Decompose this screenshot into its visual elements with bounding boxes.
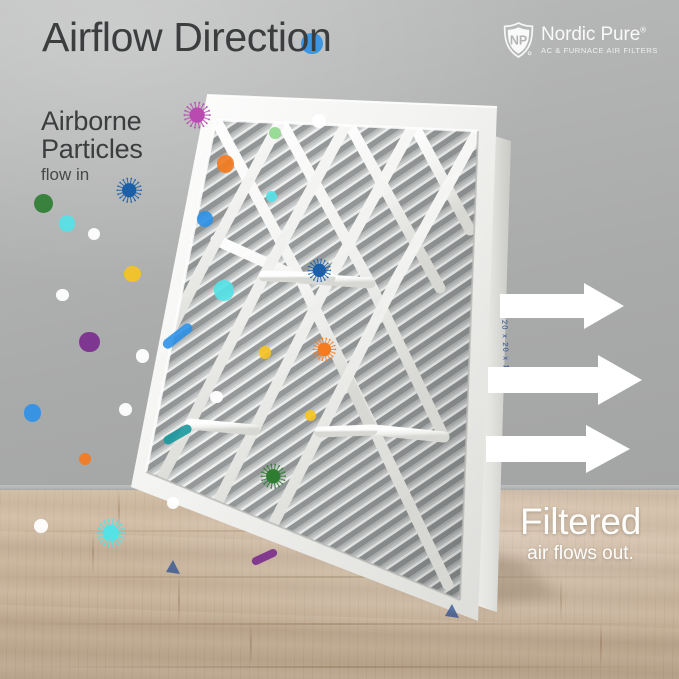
particle-dot	[269, 127, 281, 139]
particle-germ-icon	[183, 101, 211, 129]
caption-line-3: flow in	[41, 166, 143, 184]
particle-germ-icon	[96, 518, 126, 548]
brand-logo: NP Nordic Pure® AC & FURNACE AIR FILTERS	[503, 22, 658, 58]
particle-dot	[214, 280, 234, 300]
particle-dot	[24, 404, 42, 422]
airborne-particles-caption: Airborne Particles flow in	[41, 108, 143, 183]
particle-dot	[259, 346, 271, 358]
airflow-arrow-bottom	[486, 425, 630, 473]
particle-dot	[167, 497, 179, 509]
particle-germ-icon	[260, 463, 286, 489]
particle-rod	[162, 423, 193, 446]
filtered-subline: air flows out.	[520, 543, 641, 566]
particle-rod	[161, 321, 195, 350]
particle-dot	[59, 215, 75, 231]
brand-tagline: AC & FURNACE AIR FILTERS	[541, 47, 658, 55]
particle-rod	[251, 547, 279, 566]
particle-dot	[88, 228, 100, 240]
particle-germ-icon	[312, 337, 337, 362]
particle-dot	[56, 289, 68, 301]
particle-germ-icon	[307, 258, 332, 283]
particle-dot	[34, 194, 53, 213]
particle-dot	[79, 453, 91, 465]
particle-dot	[266, 191, 277, 202]
particle-dot	[119, 403, 133, 417]
particle-dot	[79, 332, 99, 352]
particle-dot	[34, 519, 48, 533]
airborne-particles-layer	[0, 0, 679, 679]
particle-dot	[217, 155, 235, 173]
airflow-arrow-middle	[488, 355, 642, 405]
page-title: Airflow Direction	[42, 17, 331, 58]
shield-initials: NP	[510, 34, 527, 48]
filtered-headline: Filtered	[520, 503, 641, 540]
registered-mark: ®	[640, 26, 646, 35]
particle-dot	[312, 114, 326, 128]
particle-dot	[197, 211, 213, 227]
filtered-air-caption: Filtered air flows out.	[520, 503, 641, 566]
airflow-arrow-top	[500, 283, 624, 329]
shield-icon: NP	[503, 22, 534, 58]
brand-name: Nordic Pure®	[541, 25, 658, 44]
particle-dot	[124, 266, 140, 282]
particle-dot	[210, 391, 222, 403]
caption-line-2: Particles	[41, 134, 143, 164]
infographic-canvas: 20 x 20 x 1 Airflow Direction Airborne P…	[0, 0, 679, 679]
caption-line-1: Airborne	[41, 106, 141, 136]
particle-dot	[305, 410, 316, 421]
particle-dot	[136, 349, 150, 363]
